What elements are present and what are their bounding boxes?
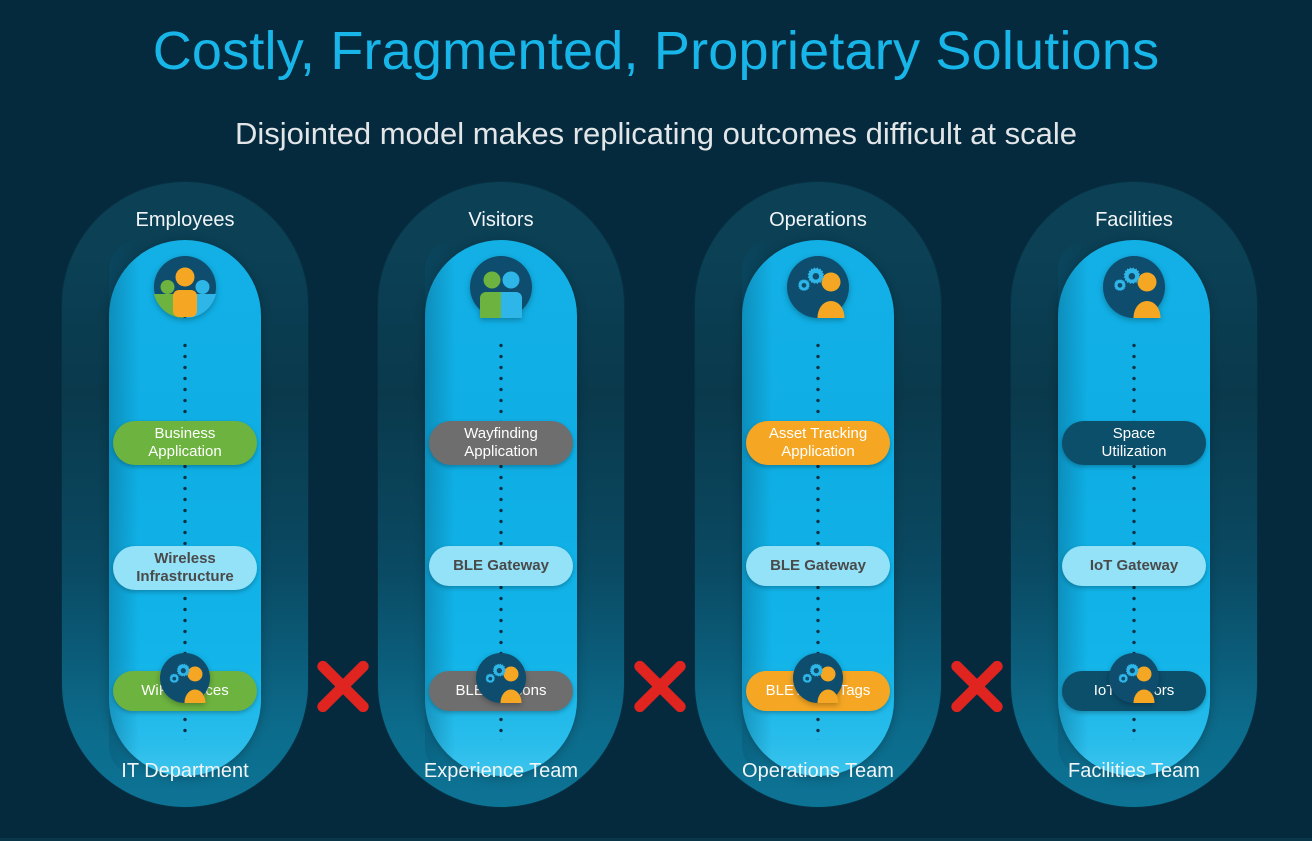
operations-person-icon [159, 652, 211, 704]
x-mark-1 [309, 652, 377, 720]
pill-label: BLE Gateway [770, 557, 866, 575]
x-mark-3 [943, 652, 1011, 720]
team-label: Facilities Team [1011, 759, 1257, 783]
inner-capsule: Business Application Wireless Infrastruc… [109, 240, 261, 776]
pill-label: Business Application [148, 425, 221, 461]
pill-business-application[interactable]: Business Application [113, 421, 257, 465]
columns-container: Employees Business Application [0, 182, 1312, 807]
group-label: Employees [62, 208, 308, 232]
group-label: Operations [695, 208, 941, 232]
people-group-icon [152, 254, 218, 320]
team-label: Operations Team [695, 759, 941, 783]
column-facilities[interactable]: Facilities [1011, 182, 1257, 807]
two-people-icon [468, 254, 534, 320]
pill-label: Space Utilization [1101, 425, 1166, 461]
pill-wireless-infrastructure[interactable]: Wireless Infrastructure [113, 546, 257, 590]
pill-label: Wireless Infrastructure [136, 550, 234, 586]
inner-capsule: Space Utilization IoT Gateway IoT Sensor… [1058, 240, 1210, 776]
column-employees[interactable]: Employees Business Application [62, 182, 308, 807]
pill-ble-gateway[interactable]: BLE Gateway [746, 546, 890, 586]
x-mark-2 [626, 652, 694, 720]
operations-person-icon [1108, 652, 1160, 704]
group-label: Facilities [1011, 208, 1257, 232]
pill-asset-tracking-application[interactable]: Asset Tracking Application [746, 421, 890, 465]
team-label: IT Department [62, 759, 308, 783]
operations-person-icon [792, 652, 844, 704]
operations-person-icon [475, 652, 527, 704]
pill-label: BLE Gateway [453, 557, 549, 575]
operations-person-icon [785, 254, 851, 320]
pill-label: Wayfinding Application [464, 425, 538, 461]
column-operations[interactable]: Operations [695, 182, 941, 807]
pill-label: IoT Gateway [1090, 557, 1178, 575]
inner-capsule: Asset Tracking Application BLE Gateway B… [742, 240, 894, 776]
team-label: Experience Team [378, 759, 624, 783]
operations-person-icon [1101, 254, 1167, 320]
page-title: Costly, Fragmented, Proprietary Solution… [0, 16, 1312, 86]
inner-capsule: Wayfinding Application BLE Gateway BLE B… [425, 240, 577, 776]
pill-space-utilization[interactable]: Space Utilization [1062, 421, 1206, 465]
pill-iot-gateway[interactable]: IoT Gateway [1062, 546, 1206, 586]
pill-wayfinding-application[interactable]: Wayfinding Application [429, 421, 573, 465]
slide-canvas: Costly, Fragmented, Proprietary Solution… [0, 0, 1312, 841]
group-label: Visitors [378, 208, 624, 232]
pill-ble-gateway[interactable]: BLE Gateway [429, 546, 573, 586]
page-subtitle: Disjointed model makes replicating outco… [0, 112, 1312, 156]
column-visitors[interactable]: Visitors Wayfinding Application [378, 182, 624, 807]
pill-label: Asset Tracking Application [769, 425, 867, 461]
